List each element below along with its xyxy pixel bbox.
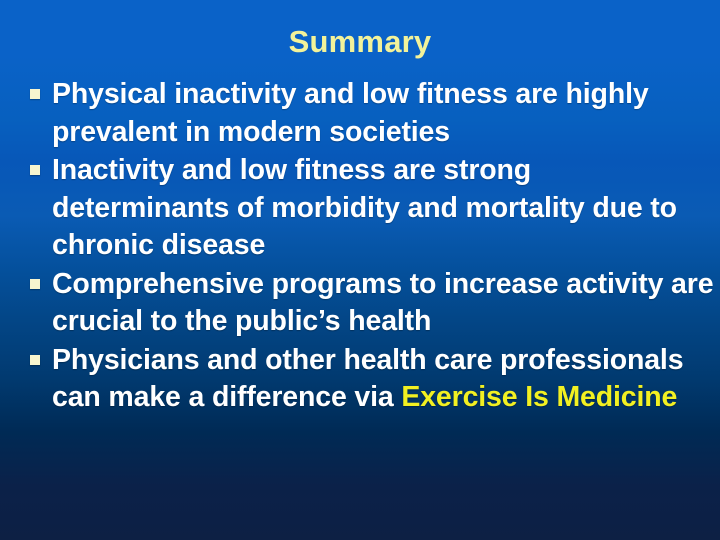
list-item-text: Inactivity and low fitness are strong de… [52,152,714,265]
list-item-text: Physical inactivity and low fitness are … [52,76,714,151]
presentation-slide: Summary Physical inactivity and low fitn… [0,0,720,540]
list-item-text: Comprehensive programs to increase activ… [52,266,714,341]
list-item: Physicians and other health care profess… [28,342,714,417]
list-item: Physical inactivity and low fitness are … [28,76,714,151]
bullet-list: Physical inactivity and low fitness are … [28,76,714,418]
square-bullet-icon [30,279,40,289]
square-bullet-icon [30,355,40,365]
list-item-text: Physicians and other health care profess… [52,342,714,417]
list-item: Inactivity and low fitness are strong de… [28,152,714,265]
list-item: Comprehensive programs to increase activ… [28,266,714,341]
page-title: Summary [0,24,720,60]
highlighted-phrase: Exercise Is Medicine [401,381,677,413]
square-bullet-icon [30,89,40,99]
square-bullet-icon [30,165,40,175]
